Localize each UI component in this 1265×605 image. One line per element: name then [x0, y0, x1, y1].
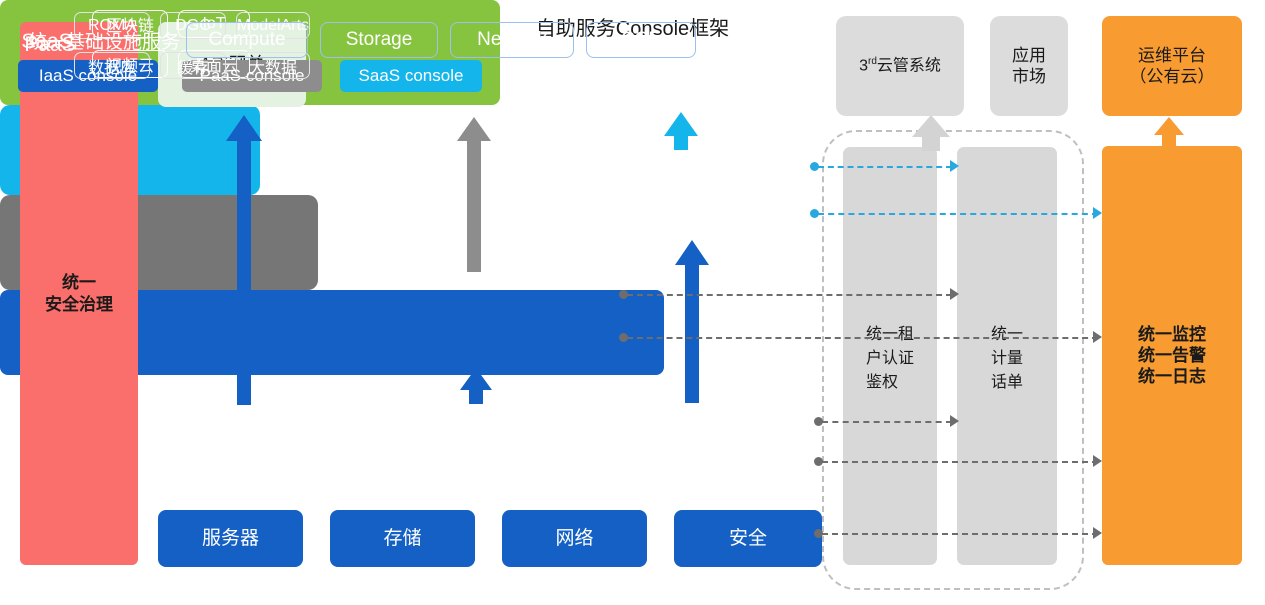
unified-metering-billing-column: 统一 计量 话单 [957, 147, 1057, 565]
arrow-saas-to-console [662, 112, 700, 150]
hardware-network-label: 网络 [555, 527, 593, 551]
architecture-diagram: 统一 安全治理 API网关 自助服务Console框架 IaaS console… [0, 0, 1265, 605]
ops-platform-public-cloud-box: 运维平台 （公有云） [1102, 16, 1242, 116]
dashed-saas-to-ops [818, 213, 1098, 215]
arrowhead-paas-to-ops [1093, 331, 1102, 343]
unified-security-governance-panel: 统一 安全治理 [20, 22, 138, 565]
iaas-item-network[interactable]: Network [450, 22, 574, 58]
unified-security-governance-label: 统一 安全治理 [45, 272, 113, 315]
unified-metering-billing-label: 统一 计量 话单 [991, 320, 1023, 392]
iaas-item-storage[interactable]: Storage [320, 22, 438, 58]
arrowhead-iaas-to-metering [950, 415, 959, 427]
hardware-security-box: 安全 [674, 510, 822, 567]
unified-monitoring-alarm-log-panel: 统一监控 统一告警 统一日志 [1102, 146, 1242, 565]
app-market-label: 应用 市场 [1012, 45, 1046, 88]
arrow-iaas-to-api-gateway [224, 115, 264, 405]
hardware-storage-box: 存储 [330, 510, 475, 567]
dashed-iaas-to-ops [822, 461, 1098, 463]
dashed-paas-to-metering [627, 294, 952, 296]
third-party-cloud-management-box: 3rd云管系统 [836, 16, 964, 116]
iaas-item-cce[interactable]: CCE [586, 22, 696, 58]
arrow-iaas-to-saas [673, 240, 711, 403]
saas-console-chip[interactable]: SaaS console [340, 60, 482, 92]
dashed-hardware-to-ops [822, 533, 1098, 535]
arrowhead-paas-to-metering [950, 288, 959, 300]
hardware-storage-label: 存储 [383, 527, 421, 551]
dashed-iaas-to-metering [822, 421, 952, 423]
hardware-security-label: 安全 [729, 527, 767, 551]
arrowhead-hardware-to-ops [1093, 527, 1102, 539]
dashed-saas-to-metering [818, 166, 952, 168]
arrowhead-saas-to-ops [1093, 207, 1102, 219]
hardware-network-box: 网络 [502, 510, 647, 567]
ordinal-suffix: rd [868, 56, 877, 67]
third-party-cloud-management-label: 3rd云管系统 [859, 56, 941, 76]
app-market-box: 应用 市场 [990, 16, 1068, 116]
arrowhead-saas-to-metering [950, 160, 959, 172]
arrow-shared-to-third-party [909, 115, 953, 151]
hardware-server-box: 服务器 [158, 510, 303, 567]
unified-tenant-auth-label: 统一租 户认证 鉴权 [866, 320, 914, 392]
unified-monitoring-alarm-log-label: 统一监控 统一告警 统一日志 [1138, 324, 1206, 388]
arrow-iaas-to-paas [458, 368, 494, 404]
arrowhead-iaas-to-ops [1093, 455, 1102, 467]
unified-tenant-auth-column: 统一租 户认证 鉴权 [843, 147, 937, 565]
arrow-paas-to-console [455, 117, 493, 272]
iaas-layer-label: 统一基础设施服务 [14, 27, 194, 54]
iaas-item-compute[interactable]: Compute [186, 22, 308, 58]
hardware-server-label: 服务器 [202, 527, 259, 551]
ops-platform-label: 运维平台 （公有云） [1130, 45, 1215, 88]
paas-item-database[interactable]: 数据库 [74, 52, 150, 79]
arrow-ops-body-to-ops-top [1152, 117, 1186, 147]
dashed-paas-to-ops [627, 337, 1098, 339]
